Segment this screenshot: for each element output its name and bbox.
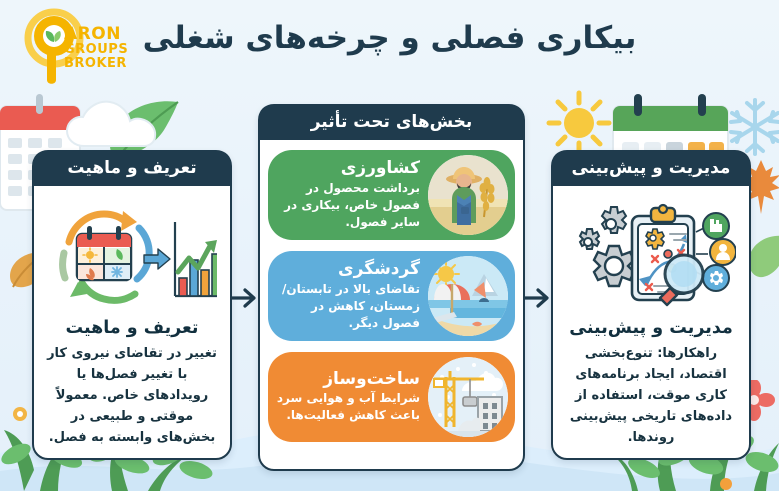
beach-umbrella-sailing-icon — [428, 256, 508, 336]
card-management-header: مدیریت و پیش‌بینی — [552, 151, 750, 186]
card-definition: تعریف و ماهیت — [32, 150, 232, 460]
brand-line-3: BROKER — [64, 57, 128, 70]
infographic-canvas: ARON GROUPS BROKER بیکاری فصلی و چرخه‌ها… — [0, 0, 779, 491]
card-management-title: مدیریت و پیش‌بینی — [564, 318, 738, 338]
card-definition-body: تعریف و ماهیت تغییر در تقاضای نیروی کار … — [34, 186, 230, 458]
card-affected-sectors: بخش‌های تحت تأثیر — [258, 104, 525, 471]
sector-construction-desc: شرایط آب و هوایی سرد باعث کاهش فعالیت‌ها… — [273, 390, 420, 424]
card-management-text: راهکارها: تنوع‌بخشی اقتصاد، ایجاد برنامه… — [564, 343, 738, 448]
sector-agriculture-desc: برداشت محصول در فصول خاص، بیکاری در سایر… — [273, 180, 420, 231]
card-definition-title: تعریف و ماهیت — [45, 318, 219, 338]
sun-top-right-icon — [546, 90, 612, 156]
card-management: مدیریت و پیش‌بینی — [551, 150, 751, 460]
sector-tourism-text: گردشگری تقاضای بالا در تابستان/زمستان، ک… — [273, 260, 422, 332]
sector-item-tourism[interactable]: گردشگری تقاضای بالا در تابستان/زمستان، ک… — [268, 251, 515, 341]
sector-agriculture-text: کشاورزی برداشت محصول در فصول خاص، بیکاری… — [273, 159, 422, 231]
sector-list: کشاورزی برداشت محصول در فصول خاص، بیکاری… — [260, 140, 523, 442]
arrow-right-icon-2 — [519, 281, 553, 315]
card-definition-header: تعریف و ماهیت — [33, 151, 231, 186]
page-title: بیکاری فصلی و چرخه‌های شغلی — [0, 20, 779, 56]
crane-building-snow-icon — [428, 357, 508, 437]
card-definition-text: تغییر در تقاضای نیروی کار با تغییر فصل‌ه… — [45, 343, 219, 448]
sector-item-construction[interactable]: ساخت‌وساز شرایط آب و هوایی سرد باعث کاهش… — [268, 352, 515, 442]
sector-agriculture-name: کشاورزی — [273, 159, 420, 179]
farmer-wheat-icon — [428, 155, 508, 235]
calendar-seasons-cycle-barchart-icon — [47, 198, 217, 314]
sector-item-agriculture[interactable]: کشاورزی برداشت محصول در فصول خاص، بیکاری… — [268, 150, 515, 240]
card-sectors-header: بخش‌های تحت تأثیر — [259, 105, 524, 140]
card-management-body: مدیریت و پیش‌بینی راهکارها: تنوع‌بخشی اق… — [553, 186, 749, 458]
sector-tourism-name: گردشگری — [273, 260, 420, 280]
sector-construction-text: ساخت‌وساز شرایط آب و هوایی سرد باعث کاهش… — [273, 370, 422, 425]
snowflake-top-right-icon — [724, 96, 779, 158]
arrow-right-icon-1 — [226, 281, 260, 315]
sector-tourism-desc: تقاضای بالا در تابستان/زمستان، کاهش در ف… — [273, 281, 420, 332]
sector-construction-name: ساخت‌وساز — [273, 370, 420, 390]
cloud-top-left-icon — [60, 96, 180, 156]
gears-clipboard-magnifier-icon — [566, 198, 736, 314]
